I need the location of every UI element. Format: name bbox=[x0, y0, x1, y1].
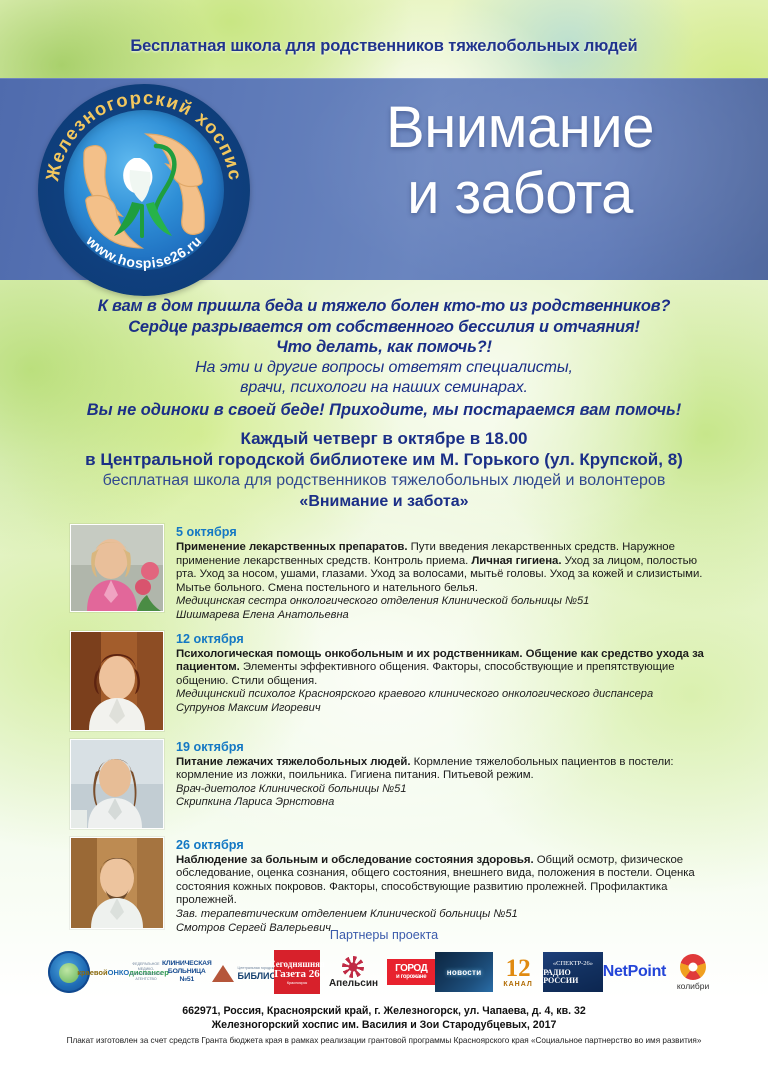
kb-microtext-top: ФЕДЕРАЛЬНОЕ МЕДИКО-БИОЛОГИЧЕСКОЕ АГЕНТСТ… bbox=[130, 962, 162, 982]
intro-line-6: Вы не одиноки в своей беде! Приходите, м… bbox=[54, 400, 714, 421]
session-body: 5 октября Применение лекарственных препа… bbox=[176, 524, 704, 623]
apelsin-label: Апельсин bbox=[329, 978, 378, 989]
partner-gazeta-logo: Сегодняшняя Газета 26 Красноярск bbox=[274, 950, 320, 994]
onko-bottom-label-a: ОНКО bbox=[108, 968, 129, 977]
library-triangle-icon bbox=[212, 965, 234, 982]
session-item: 12 октября Психологическая помощь онкобо… bbox=[70, 631, 704, 731]
session-date: 26 октября bbox=[176, 838, 704, 853]
partner-clinical-hospital-logo: ФЕДЕРАЛЬНОЕ МЕДИКО-БИОЛОГИЧЕСКОЕ АГЕНТСТ… bbox=[156, 960, 274, 984]
gazeta-line3: Красноярск bbox=[287, 980, 307, 986]
session-list: 5 октября Применение лекарственных препа… bbox=[70, 524, 704, 943]
snowdrop-icon bbox=[114, 146, 174, 236]
speaker-role: Медицинский психолог Красноярского краев… bbox=[176, 688, 704, 702]
partner-novosti-logo: новости bbox=[435, 952, 493, 992]
speaker-role: Врач-диетолог Клинической больницы №51 bbox=[176, 783, 704, 797]
kolibri-shutter-icon bbox=[680, 954, 706, 980]
session-body: 19 октября Питание лежачих тяжелобольных… bbox=[176, 739, 704, 829]
footer-organization: Железногорский хоспис им. Василия и Зои … bbox=[0, 1018, 768, 1032]
speaker-photo bbox=[70, 739, 164, 829]
logo-arc-bottom-label: www.hospise26.ru bbox=[83, 232, 205, 271]
partners-title: Партнеры проекта bbox=[0, 928, 768, 942]
gorod-line1: ГОРОД bbox=[395, 964, 427, 974]
session-topic-bold-1: Наблюдение за больным и обследование сос… bbox=[176, 854, 534, 866]
session-body: 26 октября Наблюдение за больным и обсле… bbox=[176, 837, 704, 936]
session-item: 5 октября Применение лекарственных препа… bbox=[70, 524, 704, 623]
session-topic: Наблюдение за больным и обследование сос… bbox=[176, 854, 704, 908]
speaker-name: Супрунов Максим Игоревич bbox=[176, 702, 704, 716]
event-program-name: «Внимание и забота» bbox=[40, 491, 728, 512]
speaker-photo-1-svg bbox=[71, 525, 163, 611]
logo-svg: Железногорский хоспис www.hospise26.ru bbox=[38, 84, 250, 296]
session-topic-bold-2: Личная гигиена. bbox=[471, 555, 561, 567]
session-item: 19 октября Питание лежачих тяжелобольных… bbox=[70, 739, 704, 829]
intro-line-5: врачи, психологи на наших семинарах. bbox=[54, 378, 714, 399]
speaker-photo bbox=[70, 837, 164, 929]
onko-top-label: краевой bbox=[77, 968, 107, 977]
spektr-line1: «СПЕКТР-26» bbox=[553, 960, 593, 967]
speaker-name: Шишмарева Елена Анатольевна bbox=[176, 609, 704, 623]
page-title-line2: и забота bbox=[300, 161, 740, 227]
session-topic: Питание лежачих тяжелобольных людей. Кор… bbox=[176, 756, 704, 783]
event-details: Каждый четверг в октябре в 18.00 в Центр… bbox=[40, 428, 728, 512]
event-venue: в Центральной городской библиотеке им М.… bbox=[40, 449, 728, 470]
speaker-name: Скрипкина Лариса Эрнстовна bbox=[176, 796, 704, 810]
session-date: 5 октября bbox=[176, 525, 704, 540]
partner-spektr-radio-logo: «СПЕКТР-26» РАДИО РОССИИ bbox=[543, 952, 603, 992]
session-topic-bold-1: Применение лекарственных препаратов. bbox=[176, 541, 407, 553]
partners-row: краевой ОНКОдиспансер ФЕДЕРАЛЬНОЕ МЕДИКО… bbox=[48, 946, 720, 998]
spektr-line2: РАДИО РОССИИ bbox=[543, 969, 603, 985]
apelsin-star-icon bbox=[342, 956, 364, 978]
kanal-number: 12 bbox=[506, 956, 531, 981]
hospice-logo: Железногорский хоспис www.hospise26.ru bbox=[38, 84, 250, 296]
speaker-role: Медицинская сестра онкологического отдел… bbox=[176, 595, 704, 609]
partner-apelsin-logo: Апельсин bbox=[320, 956, 387, 989]
intro-block: К вам в дом пришла беда и тяжело болен к… bbox=[54, 296, 714, 421]
session-item: 26 октября Наблюдение за больным и обсле… bbox=[70, 837, 704, 936]
gorod-line2: и горожане bbox=[396, 974, 426, 981]
session-body: 12 октября Психологическая помощь онкобо… bbox=[176, 631, 704, 731]
gazeta-line1: Сегодняшняя bbox=[269, 959, 325, 969]
speaker-role: Зав. терапевтическим отделением Клиничес… bbox=[176, 908, 704, 922]
speaker-photo-3-svg bbox=[71, 740, 163, 828]
intro-line-4: На эти и другие вопросы ответят специали… bbox=[54, 358, 714, 379]
intro-line-1: К вам в дом пришла беда и тяжело болен к… bbox=[54, 296, 714, 317]
speaker-photo-4-svg bbox=[71, 838, 163, 928]
session-date: 12 октября bbox=[176, 632, 704, 647]
speaker-photo bbox=[70, 524, 164, 612]
hospice-dot-icon bbox=[59, 963, 79, 983]
speaker-photo-2-svg bbox=[71, 632, 163, 730]
netpoint-label: NetPoint bbox=[603, 963, 666, 981]
partner-kolibri-logo: колибри bbox=[666, 954, 720, 991]
kolibri-label: колибри bbox=[677, 981, 709, 991]
page-title: Внимание и забота bbox=[300, 95, 740, 227]
session-date: 19 октября bbox=[176, 740, 704, 755]
intro-line-3: Что делать, как помочь?! bbox=[54, 337, 714, 358]
footer-address: 662971, Россия, Красноярский край, г. Же… bbox=[0, 1004, 768, 1018]
footer-grant-note: Плакат изготовлен за счет средств Гранта… bbox=[0, 1034, 768, 1047]
partner-netpoint-logo: NetPoint bbox=[603, 963, 666, 981]
session-topic-bold-1: Питание лежачих тяжелобольных людей. bbox=[176, 756, 410, 768]
header-kicker: Бесплатная школа для родственников тяжел… bbox=[0, 37, 768, 56]
gazeta-line2: Газета 26 bbox=[274, 969, 320, 980]
intro-line-2: Сердце разрывается от собственного бесси… bbox=[54, 317, 714, 338]
session-topic: Психологическая помощь онкобольным и их … bbox=[176, 648, 704, 689]
poster: Бесплатная школа для родственников тяжел… bbox=[0, 0, 768, 1086]
footer: 662971, Россия, Красноярский край, г. Же… bbox=[0, 1004, 768, 1047]
session-topic: Применение лекарственных препаратов. Пут… bbox=[176, 541, 704, 595]
event-description: бесплатная школа для родственников тяжел… bbox=[40, 470, 728, 491]
session-topic-text-1: Элементы эффективного общения. Факторы, … bbox=[176, 661, 675, 687]
page-title-line1: Внимание bbox=[386, 95, 654, 160]
speaker-photo bbox=[70, 631, 164, 731]
partner-gorod-logo: ГОРОД и горожане bbox=[387, 959, 435, 985]
event-datetime: Каждый четверг в октябре в 18.00 bbox=[40, 428, 728, 449]
novosti-label: новости bbox=[447, 968, 482, 977]
kb-title: КЛИНИЧЕСКАЯ БОЛЬНИЦА №51 bbox=[162, 960, 212, 984]
kanal-label: КАНАЛ bbox=[503, 981, 532, 988]
partner-12-kanal-logo: 12 КАНАЛ bbox=[493, 956, 543, 988]
